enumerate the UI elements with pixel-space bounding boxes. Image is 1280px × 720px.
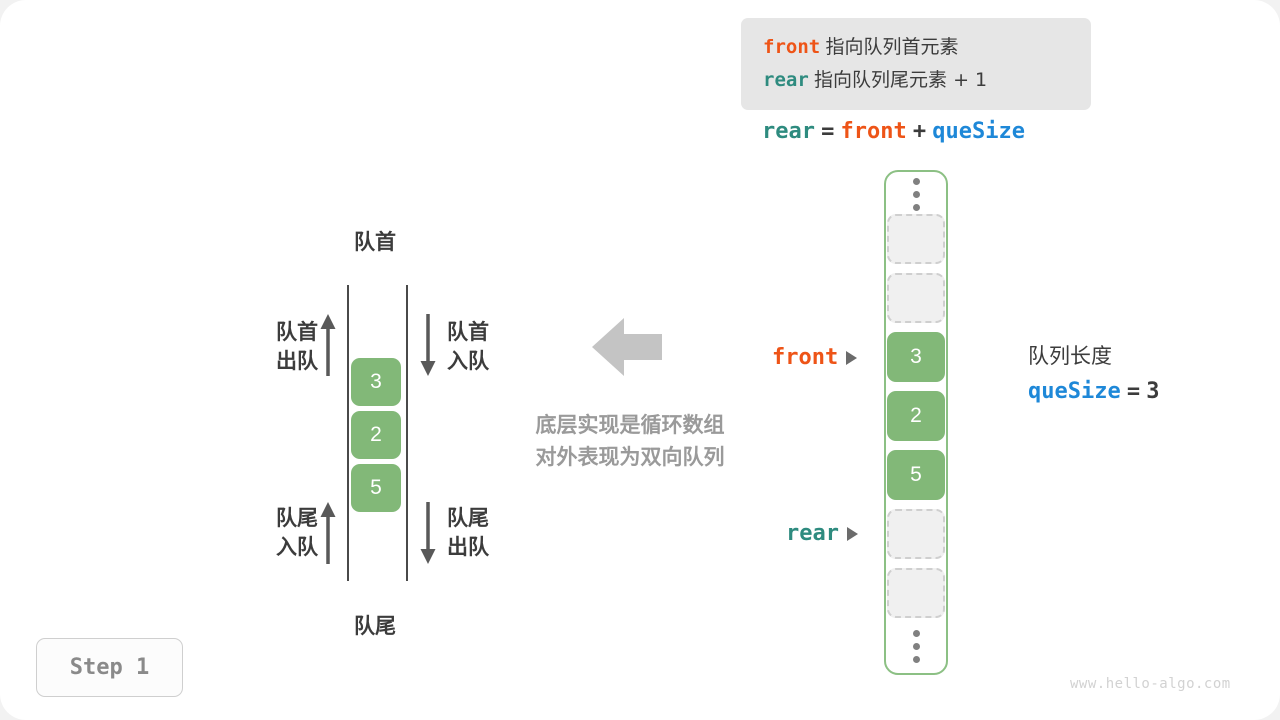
deque-label-head-enqueue-line2: 入队 xyxy=(447,347,527,376)
pointer-triangle-icon xyxy=(846,351,857,365)
deque-label-tail-dequeue-line2: 出队 xyxy=(447,533,527,562)
queue-size-title: 队列长度 xyxy=(1028,340,1159,370)
deque-label-tail-dequeue-line1: 队尾 xyxy=(447,504,527,533)
queue-size-equals: = xyxy=(1127,379,1140,404)
array-cell-empty xyxy=(887,509,945,559)
formula-front: front xyxy=(840,119,906,144)
deque-cell: 2 xyxy=(351,411,401,459)
deque-label-head-enqueue: 队首 入队 xyxy=(447,318,527,376)
step-badge: Step 1 xyxy=(36,638,183,697)
big-left-arrow-icon xyxy=(592,316,662,383)
pointer-front-label: front xyxy=(772,345,838,370)
array-cell-empty xyxy=(887,568,945,618)
deque-label-head-dequeue-line2: 出队 xyxy=(248,347,318,376)
arrow-up-head-dequeue xyxy=(315,312,341,378)
legend-box: front 指向队列首元素 rear 指向队列尾元素 + 1 xyxy=(741,18,1091,110)
queue-size-info: 队列长度 queSize = 3 xyxy=(1028,340,1159,404)
arrow-up-tail-enqueue xyxy=(315,500,341,566)
array-cell-empty xyxy=(887,273,945,323)
pointer-rear: rear xyxy=(786,521,858,546)
formula-rear: rear xyxy=(762,119,815,144)
deque-label-tail-enqueue-line1: 队尾 xyxy=(248,504,318,533)
deque-label-tail-enqueue: 队尾 入队 xyxy=(248,504,318,562)
array-cell-empty xyxy=(887,214,945,264)
array-ellipsis-bottom xyxy=(887,630,945,663)
array-cell-filled: 2 xyxy=(887,391,945,441)
formula-rear-equals: rear = front + queSize xyxy=(762,118,1025,144)
formula-plus: + xyxy=(913,119,926,144)
center-note: 底层实现是循环数组 对外表现为双向队列 xyxy=(470,410,790,474)
pointer-front: front xyxy=(772,345,857,370)
deque-tail-label: 队尾 xyxy=(300,610,450,640)
legend-term-front: front xyxy=(763,36,820,58)
array-cell-filled: 3 xyxy=(887,332,945,382)
arrow-down-tail-dequeue xyxy=(415,500,441,566)
formula-quesize: queSize xyxy=(932,119,1025,144)
deque-label-head-dequeue: 队首 出队 xyxy=(248,318,318,376)
legend-term-rear: rear xyxy=(763,69,809,91)
deque-cell: 3 xyxy=(351,358,401,406)
diagram-canvas: front 指向队列首元素 rear 指向队列尾元素 + 1 rear = fr… xyxy=(0,0,1280,720)
pointer-rear-label: rear xyxy=(786,521,839,546)
watermark: www.hello-algo.com xyxy=(1070,676,1231,692)
legend-text-rear: 指向队列尾元素 + 1 xyxy=(814,69,987,91)
deque-rail-right xyxy=(406,285,408,581)
deque-label-head-dequeue-line1: 队首 xyxy=(248,318,318,347)
arrow-down-head-enqueue xyxy=(415,312,441,378)
center-note-line1: 底层实现是循环数组 xyxy=(470,410,790,442)
deque-label-tail-enqueue-line2: 入队 xyxy=(248,533,318,562)
legend-line-rear: rear 指向队列尾元素 + 1 xyxy=(763,64,1091,97)
center-note-line2: 对外表现为双向队列 xyxy=(470,442,790,474)
legend-line-front: front 指向队列首元素 xyxy=(763,31,1091,64)
queue-size-value: 3 xyxy=(1146,379,1159,404)
array-ellipsis-top xyxy=(887,178,945,211)
queue-size-var: queSize xyxy=(1028,379,1121,404)
array-cell-filled: 5 xyxy=(887,450,945,500)
deque-head-label: 队首 xyxy=(300,226,450,256)
deque-label-head-enqueue-line1: 队首 xyxy=(447,318,527,347)
pointer-triangle-icon xyxy=(847,527,858,541)
queue-size-expression: queSize = 3 xyxy=(1028,378,1159,404)
formula-equals: = xyxy=(821,119,834,144)
deque-label-tail-dequeue: 队尾 出队 xyxy=(447,504,527,562)
deque-rail-left xyxy=(347,285,349,581)
legend-text-front: 指向队列首元素 xyxy=(825,36,958,58)
deque-cell: 5 xyxy=(351,464,401,512)
